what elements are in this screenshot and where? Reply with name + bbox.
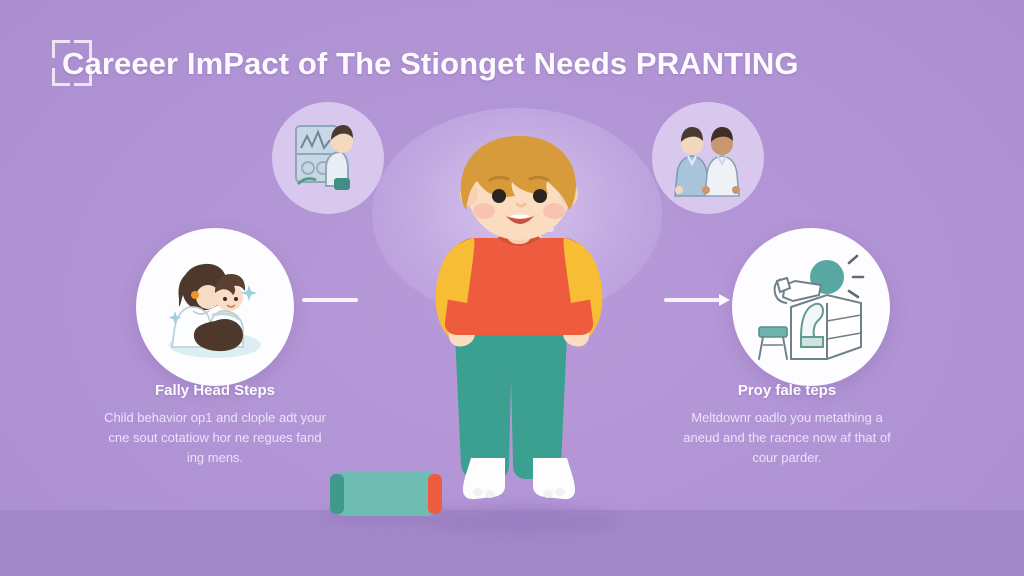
calm-corner-chair-icon <box>745 241 877 373</box>
block-left-heading: Fally Head Steps <box>100 382 330 399</box>
page-title-row: Careeer ImPact of The Stionget Needs PRA… <box>44 36 799 92</box>
floor-roll-object <box>326 468 446 522</box>
two-caregivers-standing-icon <box>662 112 754 204</box>
block-right-body: Meltdownr oadlo you metathing a aneud an… <box>672 408 902 467</box>
block-left: Fally Head Steps Child behavior op1 and … <box>100 382 330 467</box>
block-right-heading: Proy fale teps <box>672 382 902 399</box>
node-two-caregivers[interactable] <box>652 102 764 214</box>
connector-right <box>664 290 730 310</box>
node-quiet-room-calm-corner[interactable] <box>732 228 890 386</box>
connector-left <box>302 290 358 310</box>
infographic-poster: Careeer ImPact of The Stionget Needs PRA… <box>0 0 1024 576</box>
node-parent-comforting-child[interactable] <box>136 228 294 386</box>
node-child-at-chart-board[interactable] <box>272 102 384 214</box>
block-left-body: Child behavior op1 and clople adt your c… <box>100 408 330 467</box>
page-title: Careeer ImPact of The Stionget Needs PRA… <box>62 46 799 82</box>
block-right: Proy fale teps Meltdownr oadlo you metat… <box>672 382 902 467</box>
parent-hugging-child-icon <box>149 241 281 373</box>
child-at-chart-board-icon <box>282 112 374 204</box>
